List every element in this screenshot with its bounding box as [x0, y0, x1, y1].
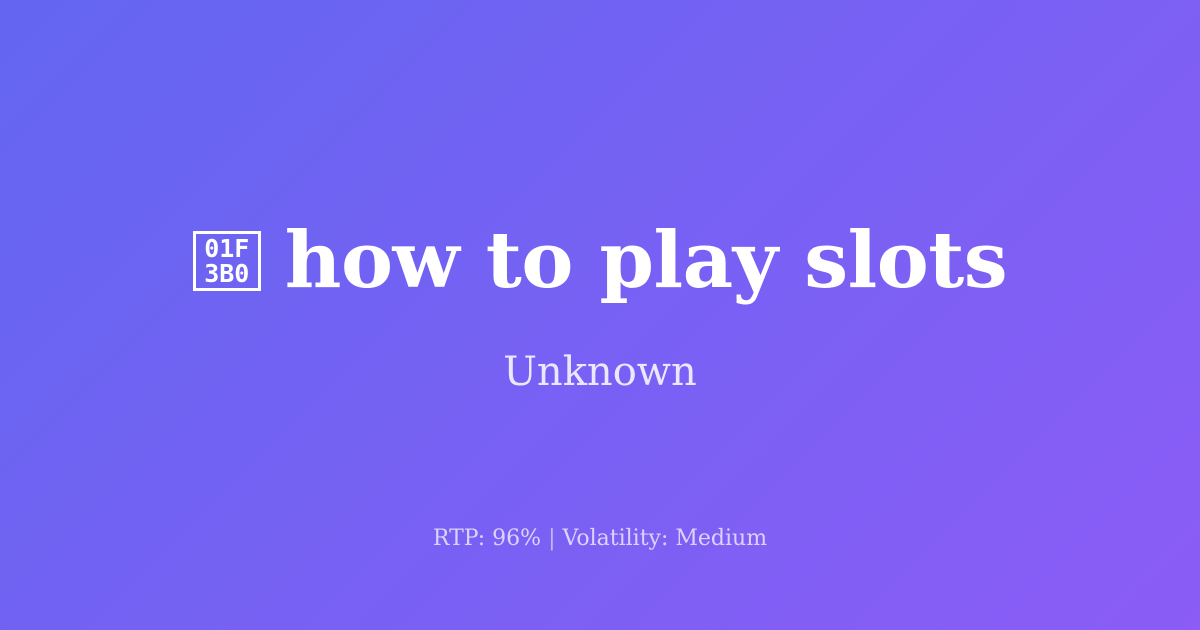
stat-separator: | [541, 526, 562, 551]
og-preview-card: 01F 3B0 how to play slots Unknown RTP: 9… [0, 0, 1200, 630]
slot-machine-icon-codepoint-bottom: 3B0 [204, 261, 249, 286]
volatility-stat: Volatility: Medium [563, 526, 768, 551]
hero-block: 01F 3B0 how to play slots Unknown [0, 222, 1200, 392]
provider-subtitle: Unknown [503, 352, 697, 392]
slot-machine-icon: 01F 3B0 [193, 231, 261, 291]
game-stats-line: RTP: 96%|Volatility: Medium [0, 528, 1200, 550]
rtp-stat: RTP: 96% [433, 526, 541, 551]
page-title-text: how to play slots [285, 222, 1007, 300]
slot-machine-icon-codepoint-top: 01F [204, 236, 249, 261]
page-title: 01F 3B0 how to play slots [193, 222, 1007, 300]
